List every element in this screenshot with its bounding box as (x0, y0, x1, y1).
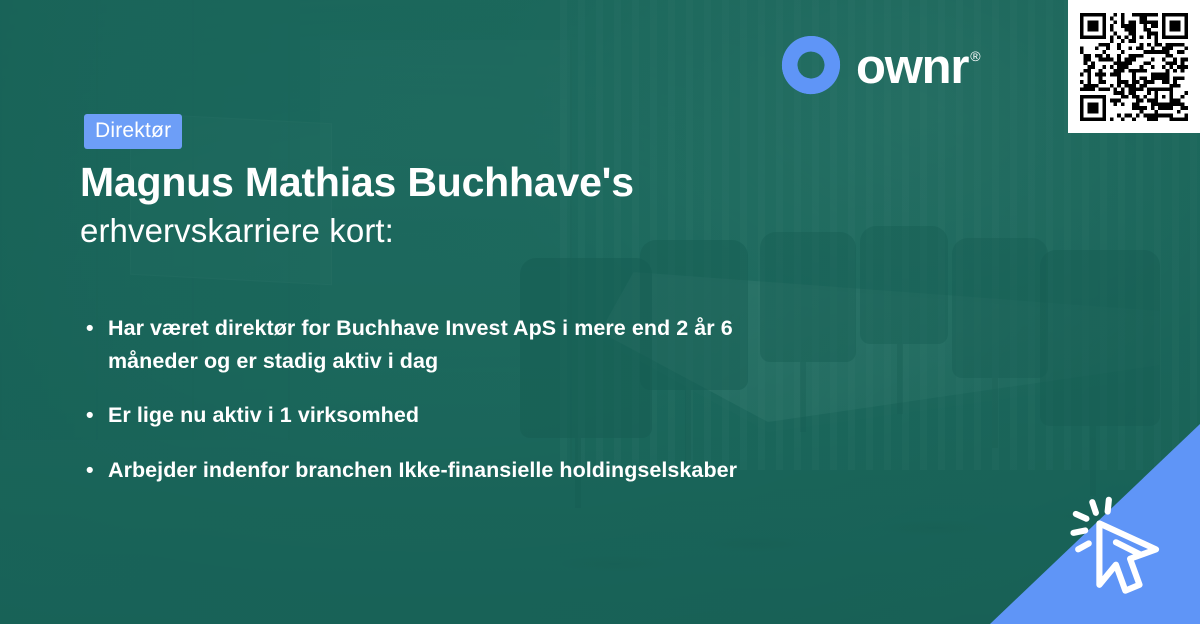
card-content: Direktør Magnus Mathias Buchhave's erhve… (0, 0, 1200, 624)
list-item-label: Arbejder indenfor branchen Ikke-finansie… (108, 454, 828, 487)
list-item: • Arbejder indenfor branchen Ikke-finans… (84, 454, 964, 487)
page-title: Magnus Mathias Buchhave's erhvervskarrie… (80, 158, 940, 253)
ownr-logo-mark-icon (780, 34, 842, 96)
list-item-label: Er lige nu aktiv i 1 virksomhed (108, 399, 828, 432)
bullet-dot-icon: • (86, 454, 94, 487)
ownr-wordmark: ownr® (856, 43, 977, 92)
list-item-label: Har været direktør for Buchhave Invest A… (108, 312, 828, 377)
career-highlights-list: • Har været direktør for Buchhave Invest… (84, 312, 964, 487)
bullet-dot-icon: • (86, 312, 94, 345)
click-cursor-icon (1064, 488, 1182, 606)
list-item: • Har været direktør for Buchhave Invest… (84, 312, 964, 377)
headline-line-1: Magnus Mathias Buchhave's (80, 158, 940, 206)
bullet-dot-icon: • (86, 399, 94, 432)
ownr-wordmark-text: ownr (856, 40, 968, 94)
qr-code[interactable] (1080, 13, 1188, 121)
headline-line-2: erhvervskarriere kort: (80, 210, 940, 252)
qr-code-panel[interactable] (1068, 0, 1200, 133)
ownr-logo[interactable]: ownr® (780, 34, 977, 96)
career-summary-card: Direktør Magnus Mathias Buchhave's erhve… (0, 0, 1200, 624)
role-badge: Direktør (84, 114, 182, 149)
registered-trademark-icon: ® (970, 48, 979, 64)
list-item: • Er lige nu aktiv i 1 virksomhed (84, 399, 964, 432)
